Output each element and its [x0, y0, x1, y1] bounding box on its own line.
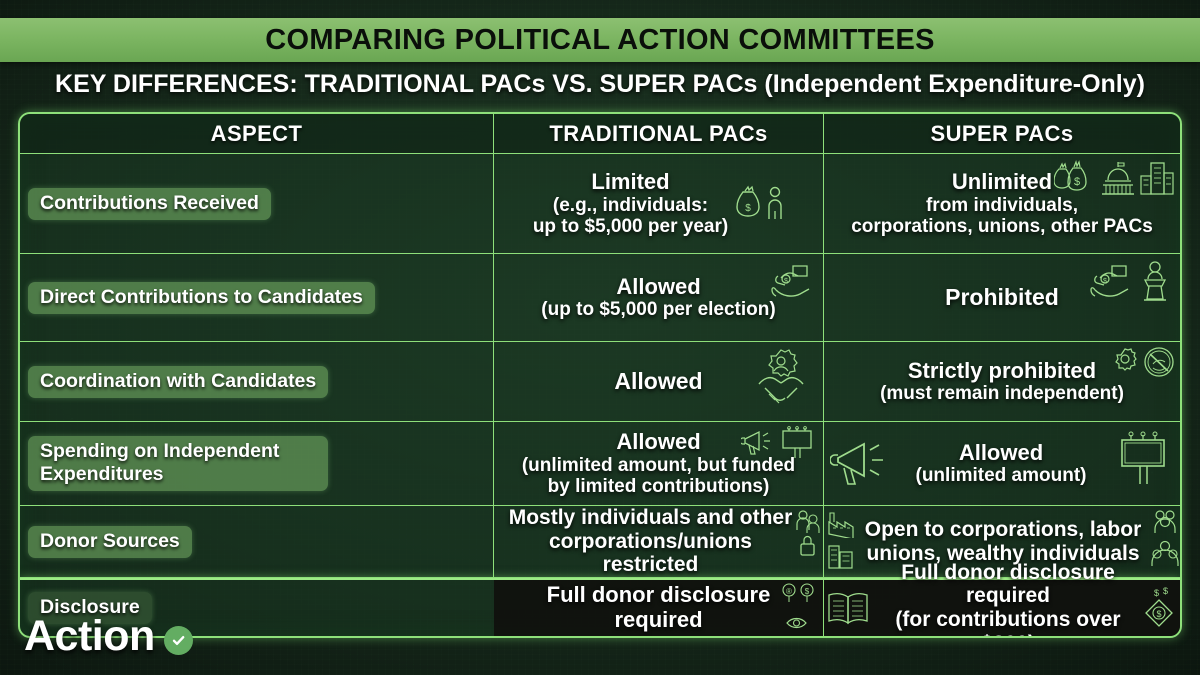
aspect-cell: Donor Sources [20, 506, 494, 577]
money-diamond-icon: $ $ $ [1140, 584, 1180, 634]
svg-text:®: ® [786, 587, 792, 596]
aspect-label: Donor Sources [28, 526, 192, 558]
aspect-cell: Spending on Independent Expenditures [20, 422, 494, 505]
cell-sub1: (unlimited amount) [916, 465, 1087, 486]
cell-text: Allowed [614, 369, 702, 395]
brand-logo: Action [24, 612, 193, 661]
column-header-traditional-label: TRADITIONAL PACs [549, 121, 767, 147]
capitol-icon [1100, 160, 1136, 198]
money-bag-icon: $ [734, 185, 764, 223]
cell-text: Strictly prohibited (must remain indepen… [880, 359, 1124, 405]
traditional-cell: Mostly individuals and other corporation… [494, 506, 824, 577]
cell-sub1: (must remain independent) [880, 383, 1124, 404]
person-lock-icon [793, 508, 821, 564]
aspect-cell: Direct Contributions to Candidates [20, 254, 494, 341]
check-icon [164, 626, 193, 655]
hand-giving-money-icon: $ [771, 260, 817, 304]
cell-icons-left [826, 587, 870, 631]
comparison-table: ASPECT TRADITIONAL PACs SUPER PACs Contr… [18, 112, 1182, 638]
money-bags-icon: $ [1054, 160, 1098, 198]
table-header-row: ASPECT TRADITIONAL PACs SUPER PACs [20, 114, 1180, 154]
aspect-cell: Coordination with Candidates [20, 342, 494, 421]
hand-giving-money-icon: $ [1090, 260, 1136, 304]
table-row: Disclosure Full donor disclosure require… [20, 578, 1180, 636]
cell-icons-left [826, 508, 856, 538]
aspect-label: Contributions Received [28, 188, 271, 220]
title-banner: COMPARING POLITICAL ACTION COMMITTEES [0, 18, 1200, 62]
cell-icons [793, 508, 821, 564]
cell-main: Open to corporations, labor [865, 518, 1142, 542]
svg-text:$: $ [805, 587, 810, 596]
megaphone-icon [830, 436, 894, 490]
svg-text:$: $ [1103, 278, 1107, 285]
cell-main: Mostly individuals and other [502, 506, 799, 530]
traditional-cell: Full donor disclosure required ® $ [494, 580, 824, 636]
podium-speaker-icon [1138, 260, 1172, 304]
cell-text: Full donor disclosure required (for cont… [866, 561, 1150, 638]
cell-icons: $ [1090, 260, 1172, 304]
billboard-icon [779, 425, 817, 461]
cell-icons: $ [771, 260, 817, 304]
super-cell: Unlimited from individuals, corporations… [824, 154, 1180, 253]
traditional-cell: Allowed [494, 342, 824, 421]
cell-icons-left [830, 436, 894, 490]
super-cell: Strictly prohibited (must remain indepen… [824, 342, 1180, 421]
column-header-super-label: SUPER PACs [931, 121, 1074, 147]
super-cell: Allowed (unlimited amount) [824, 422, 1180, 505]
traditional-cell: Allowed (unlimited amount, but funded by… [494, 422, 824, 505]
svg-text:$: $ [784, 278, 788, 285]
svg-text:$: $ [1074, 176, 1080, 188]
cell-text: Limited (e.g., individuals: up to $5,000… [533, 170, 728, 237]
cell-sub2: up to $5,000 per year) [533, 216, 728, 237]
cell-main: Full donor disclosure required [502, 583, 815, 632]
column-header-traditional: TRADITIONAL PACs [494, 114, 824, 153]
cell-icons [1116, 430, 1172, 486]
table-row: Coordination with Candidates Allowed [20, 342, 1180, 422]
infographic-canvas: COMPARING POLITICAL ACTION COMMITTEES KE… [0, 0, 1200, 675]
cell-main: Limited [533, 170, 728, 195]
cell-icons: $ $ $ [1140, 584, 1180, 634]
super-cell: Prohibited $ [824, 254, 1180, 341]
subtitle-bar: KEY DIFFERENCES: TRADITIONAL PACs VS. SU… [0, 66, 1200, 102]
cell-icons [1110, 344, 1176, 380]
cell-icons: ® $ [779, 581, 819, 635]
cell-sub2: by limited contributions) [522, 476, 795, 497]
table-row: Spending on Independent Expenditures All… [20, 422, 1180, 506]
cell-main: Strictly prohibited [880, 359, 1124, 384]
cell-icons [741, 425, 817, 461]
aspect-label: Direct Contributions to Candidates [28, 282, 375, 314]
transparency-icon: ® $ [779, 581, 819, 635]
office-building-icon [1138, 160, 1176, 198]
table-row: Direct Contributions to Candidates Allow… [20, 254, 1180, 342]
gear-icon [1110, 346, 1140, 378]
cell-main: Allowed [614, 369, 702, 395]
logo-word: Action [24, 612, 155, 661]
column-header-aspect-label: ASPECT [211, 121, 303, 147]
billboard-icon [1116, 430, 1172, 486]
open-book-icon [826, 587, 870, 631]
column-header-aspect: ASPECT [20, 114, 494, 153]
cell-sub1: (up to $5,000 per election) [541, 299, 775, 320]
super-cell: Full donor disclosure required (for cont… [824, 580, 1180, 636]
cell-icons: $ [1054, 160, 1176, 198]
cell-main: Allowed [541, 275, 775, 300]
cell-sub1: (for contributions over $200) [866, 608, 1150, 638]
aspect-label: Spending on Independent Expenditures [28, 436, 328, 491]
cell-icons [753, 346, 809, 416]
svg-text:$: $ [1163, 586, 1168, 596]
cell-sub1: corporations/unions restricted [502, 530, 799, 577]
factory-icon [826, 508, 856, 538]
cell-sub1: (e.g., individuals: [533, 195, 728, 216]
cell-main: Allowed [916, 441, 1087, 466]
aspect-cell: Contributions Received [20, 154, 494, 253]
cell-main: Full donor disclosure required [866, 561, 1150, 608]
cell-text: Allowed (unlimited amount) [916, 441, 1087, 487]
cell-text: Mostly individuals and other corporation… [502, 506, 799, 577]
svg-text:$: $ [745, 203, 751, 214]
traditional-cell: Limited (e.g., individuals: up to $5,000… [494, 154, 824, 253]
page-subtitle: KEY DIFFERENCES: TRADITIONAL PACs VS. SU… [55, 70, 1145, 99]
cell-text: Prohibited [945, 285, 1059, 311]
page-title: COMPARING POLITICAL ACTION COMMITTEES [265, 24, 935, 57]
cell-text: Full donor disclosure required [502, 583, 815, 632]
svg-text:$: $ [1156, 609, 1161, 619]
cell-text: Allowed (up to $5,000 per election) [541, 275, 775, 321]
handshake-gear-icon [753, 346, 809, 416]
cell-sub2: corporations, unions, other PACs [851, 216, 1153, 237]
megaphone-icon [741, 428, 777, 458]
aspect-label: Coordination with Candidates [28, 366, 328, 398]
svg-text:$: $ [1154, 588, 1159, 598]
traditional-cell: Allowed (up to $5,000 per election) $ [494, 254, 824, 341]
no-coordination-icon [1142, 344, 1176, 380]
cell-text: Open to corporations, labor unions, weal… [865, 518, 1142, 565]
column-header-super: SUPER PACs [824, 114, 1180, 153]
cell-main: Prohibited [945, 285, 1059, 311]
table-row: Contributions Received Limited (e.g., in… [20, 154, 1180, 254]
cell-icons: $ [734, 185, 784, 223]
person-icon [766, 185, 784, 223]
